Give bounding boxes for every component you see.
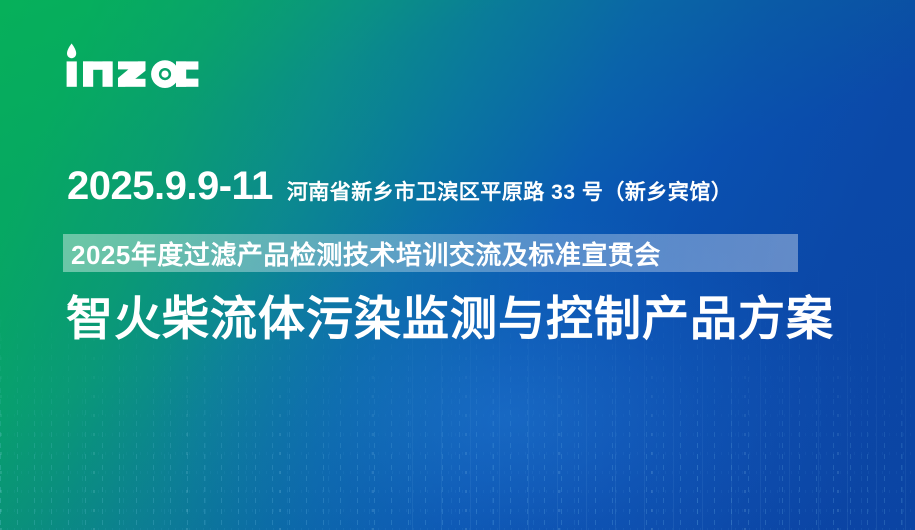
- event-banner: 2025.9.9-11 河南省新乡市卫滨区平原路 33 号（新乡宾馆） 2025…: [0, 0, 915, 530]
- event-subtitle: 2025年度过滤产品检测技术培训交流及标准宣贯会: [63, 235, 661, 272]
- flame-icon: [67, 44, 76, 59]
- event-subtitle-band: 2025年度过滤产品检测技术培训交流及标准宣贯会: [63, 234, 798, 272]
- event-headline: 智火柴流体污染监测与控制产品方案: [66, 290, 834, 349]
- event-venue: 河南省新乡市卫滨区平原路 33 号（新乡宾馆）: [287, 182, 733, 203]
- event-date-row: 2025.9.9-11 河南省新乡市卫滨区平原路 33 号（新乡宾馆）: [67, 166, 732, 206]
- brand-logo[interactable]: [62, 43, 200, 91]
- event-date: 2025.9.9-11: [67, 166, 273, 206]
